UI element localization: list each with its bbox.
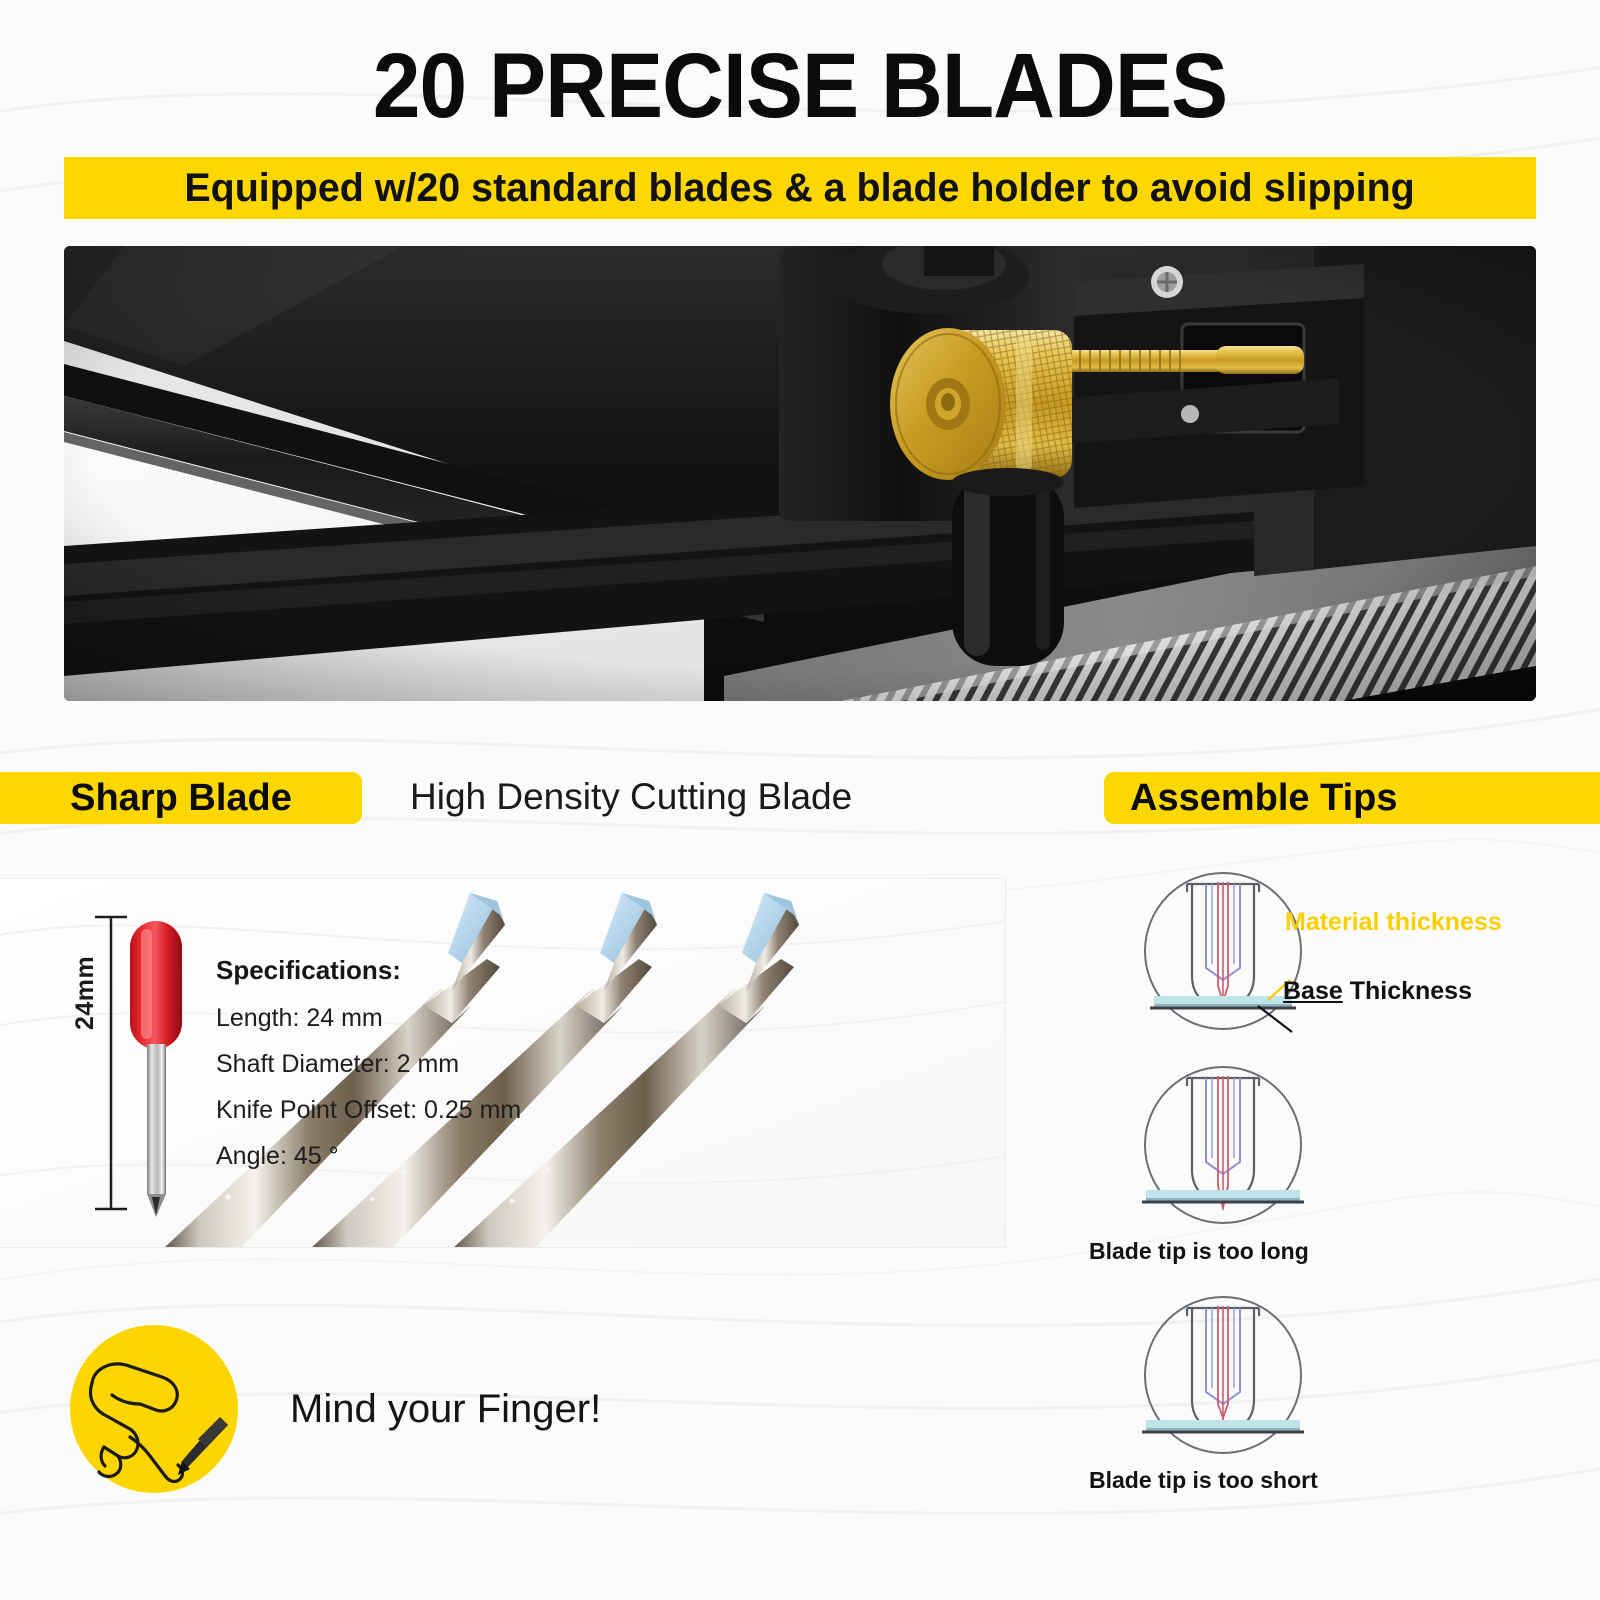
caption-blade-tip-too-short: Blade tip is too short [1089, 1467, 1318, 1494]
blade-holder-closeup-photo [64, 246, 1536, 701]
badge-sharp-blade-label: Sharp Blade [70, 777, 292, 820]
specifications-title: Specifications: [216, 955, 521, 986]
safety-note: Mind your Finger! [70, 1325, 601, 1493]
badge-assemble-tips-label: Assemble Tips [1130, 777, 1398, 820]
spec-angle: Angle: 45 ° [216, 1142, 521, 1171]
pointing-hand-with-blade-icon [70, 1325, 238, 1493]
blade-length-dimension-label: 24mm [71, 956, 100, 1030]
badge-assemble-tips: Assemble Tips [1104, 772, 1600, 824]
assemble-diagram-too-short [1140, 1292, 1306, 1463]
safety-note-text: Mind your Finger! [290, 1387, 601, 1432]
spec-length: Length: 24 mm [216, 1004, 521, 1033]
annotation-base-word: Base [1283, 977, 1343, 1005]
subtitle-band: Equipped w/20 standard blades & a blade … [64, 157, 1536, 219]
assemble-diagram-too-long [1140, 1062, 1306, 1233]
annotation-thickness-word: Thickness [1343, 977, 1472, 1005]
spec-shaft-diameter: Shaft Diameter: 2 mm [216, 1050, 521, 1079]
spec-knife-point-offset: Knife Point Offset: 0.25 mm [216, 1096, 521, 1125]
caption-blade-tip-too-long: Blade tip is too long [1089, 1238, 1309, 1265]
sharp-blade-subhead: High Density Cutting Blade [410, 776, 852, 818]
badge-sharp-blade: Sharp Blade [0, 772, 362, 824]
assemble-diagram-correct-depth [1140, 868, 1306, 1039]
specifications-block: Specifications: Length: 24 mm Shaft Diam… [216, 955, 521, 1188]
page-title: 20 PRECISE BLADES [56, 38, 1544, 135]
annotation-base-thickness: Base Thickness [1283, 977, 1472, 1006]
annotation-material-thickness: Material thickness [1285, 908, 1502, 937]
subtitle-text: Equipped w/20 standard blades & a blade … [185, 166, 1415, 211]
